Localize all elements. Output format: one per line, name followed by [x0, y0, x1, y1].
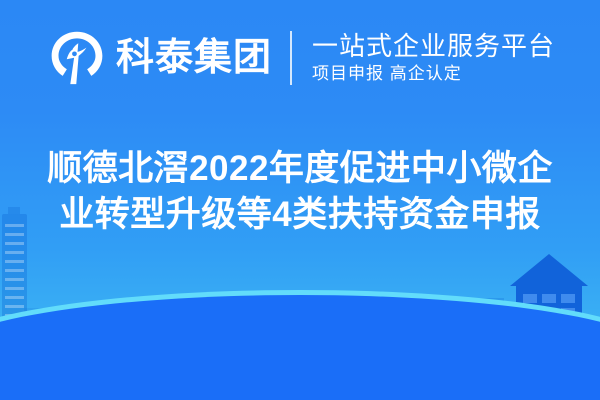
arc-fill: [0, 295, 600, 400]
tagline-main: 一站式企业服务平台: [312, 31, 555, 61]
headline-line-1: 顺德北滘2022年度促进中小微企: [22, 146, 578, 192]
tagline-sub: 项目申报 高企认定: [312, 63, 555, 85]
ketai-circle-logo-icon: [48, 29, 106, 87]
promo-banner: 科泰集团 一站式企业服务平台 项目申报 高企认定 顺德北滘2022年度促进中小微…: [0, 0, 600, 400]
tagline-group: 一站式企业服务平台 项目申报 高企认定: [312, 31, 555, 85]
headline-block: 顺德北滘2022年度促进中小微企 业转型升级等4类扶持资金申报: [0, 146, 600, 237]
headline-line-2: 业转型升级等4类扶持资金申报: [22, 192, 578, 238]
header-divider: [290, 31, 292, 85]
building-roof: [510, 254, 588, 286]
brand-name: 科泰集团: [116, 39, 272, 77]
bottom-curve-arc-icon: [0, 290, 600, 400]
brand-header: 科泰集团 一站式企业服务平台 项目申报 高企认定: [48, 22, 555, 94]
